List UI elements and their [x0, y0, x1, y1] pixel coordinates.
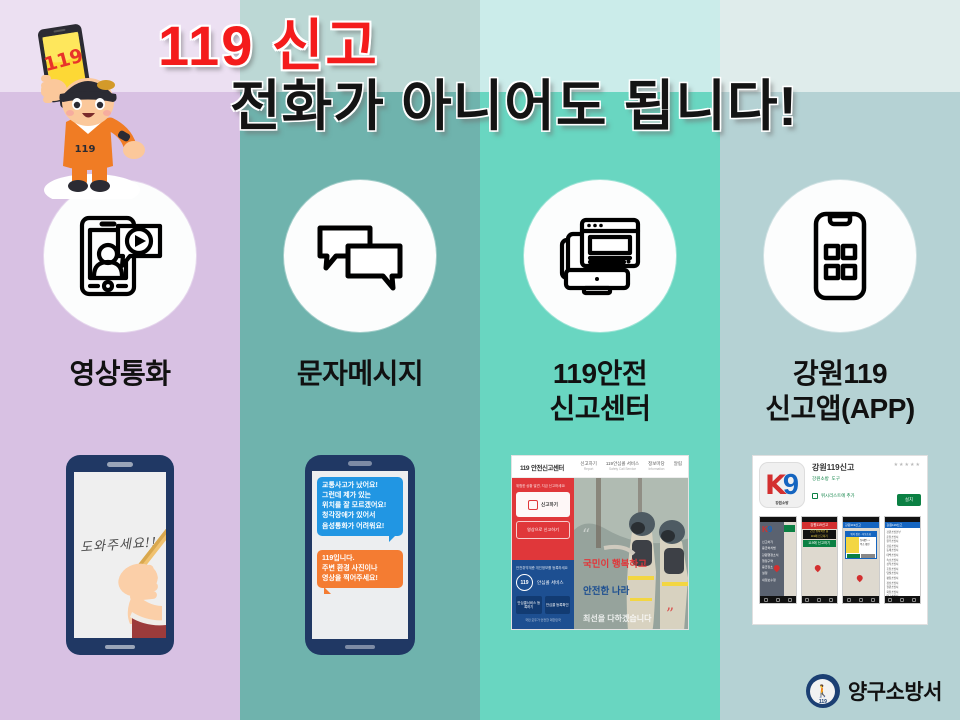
android-nav-bar — [843, 596, 879, 603]
app-install-button[interactable]: 설치 — [897, 494, 921, 506]
icon-circle-report-center — [524, 180, 676, 332]
hand-with-pencil-illustration — [74, 472, 166, 638]
safetycall-brand: 119 안심콜 서비스 — [516, 574, 570, 591]
media-cell-appstore: K 9 강원소방 강원119신고 강원소방 도구 위시리스트에 추가 ★★★★★ — [720, 455, 960, 670]
safetycall-tagline: 안전취약계층 개인정보를 등록하세요 — [516, 565, 570, 570]
column-2-top-band — [240, 0, 480, 92]
app-metadata: 강원119신고 강원소방 도구 위시리스트에 추가 — [812, 462, 870, 508]
shield-icon: 119 — [516, 574, 533, 591]
feature-report-center[interactable]: 119안전 신고센터 — [480, 180, 720, 460]
safetycall-footnote: 국민 모두가 안전한 대한민국 — [516, 618, 570, 622]
android-nav-bar — [802, 596, 838, 603]
report-icon — [528, 500, 538, 510]
app-title: 강원119신고 — [812, 462, 870, 473]
icon-circle-video-call — [44, 180, 196, 332]
hero-line-3: 최선을 다하겠습니다 — [583, 613, 651, 625]
column-3-top-band — [480, 0, 720, 92]
nav-item-3[interactable]: 알림 — [674, 461, 682, 473]
handwriting-phone-mockup: 도와주세요!! — [66, 455, 174, 655]
app-screenshot-gallery: K9 신고하기응급처치법강원행정소식행정구역응급장소설정내정보수정 — [759, 516, 921, 604]
safetycall-buttons: 안심콜서비스 등록하기 안심콜 등록확인 — [516, 596, 570, 614]
report-button-label: 신고하기 — [541, 502, 558, 508]
website-sidebar: 위험한 상황 발견, 지금 신고하세요! 신고하기 영상으로 신고하기 안전취약… — [512, 478, 574, 630]
yanggu-fire-station-emblem: 🚶 119 — [806, 674, 840, 708]
media-cell-handwriting: 도와주세요!! — [0, 455, 240, 670]
feature-label-text-message: 문자메시지 — [297, 356, 423, 391]
website-logo-subtitle: 안전신고센터 — [531, 465, 564, 472]
chat-bubbles-icon — [308, 204, 412, 308]
feature-list: 영상통화 문자메시지 — [0, 180, 960, 460]
hero-line-1: 국민이 행복하고 — [583, 558, 651, 572]
video-call-phone-icon — [68, 204, 172, 308]
feature-text-message[interactable]: 문자메시지 — [240, 180, 480, 460]
website-body: 위험한 상황 발견, 지금 신고하세요! 신고하기 영상으로 신고하기 안전취약… — [512, 478, 688, 630]
hero-text: 국민이 행복하고 안전한 나라 최선을 다하겠습니다 — [583, 544, 651, 630]
poster-root: 119 — [0, 0, 960, 720]
sms-phone-mockup: 교통사고가 났어요! 그런데 제가 있는 위치를 잘 모르겠어요! 청각장애가 … — [305, 455, 415, 655]
screenshot-body: 강원119신고 강원소방본부춘천소방서원주소방서강릉소방서동해소방서태백소방서속… — [885, 522, 921, 596]
quote-close-icon: ” — [666, 609, 674, 619]
smartphone-apps-icon — [788, 204, 892, 308]
screenshot-body: K9 신고하기응급처치법강원행정소식행정구역응급장소설정내정보수정 — [760, 522, 796, 596]
nav-item-0[interactable]: 신고하기Report — [580, 461, 597, 473]
nav-item-1[interactable]: 119안심콜 서비스Safety Call Service — [606, 461, 639, 473]
website-safetycall-panel: 안전취약계층 개인정보를 등록하세요 119 안심콜 서비스 안심콜서비스 등록… — [512, 560, 574, 630]
safetycall-confirm-button[interactable]: 안심콜 등록확인 — [545, 596, 571, 614]
media-cell-sms: 교통사고가 났어요! 그런데 제가 있는 위치를 잘 모르겠어요! 청각장애가 … — [240, 455, 480, 670]
emblem-number: 119 — [806, 699, 840, 705]
website-report-panel: 위험한 상황 발견, 지금 신고하세요! 신고하기 영상으로 신고하기 — [512, 478, 574, 560]
app-wishlist-button[interactable]: 위시리스트에 추가 — [812, 493, 870, 499]
sms-screen: 교통사고가 났어요! 그런데 제가 있는 위치를 잘 모르겠어요! 청각장애가 … — [312, 471, 408, 639]
app-screenshot-location[interactable]: 강원119신고 위치 정보 - 자동조회 동내면 ○○주소 확인 — [842, 516, 880, 604]
report-panel-tagline: 위험한 상황 발견, 지금 신고하세요! — [516, 483, 570, 488]
phone-home-button — [345, 645, 375, 649]
phone-speaker — [348, 461, 372, 466]
footer-branding: 🚶 119 양구소방서 — [806, 674, 942, 708]
app-icon-k9: K 9 강원소방 — [759, 462, 805, 508]
svg-text:119: 119 — [75, 144, 96, 155]
phone-speaker — [107, 462, 133, 467]
video-report-button[interactable]: 영상으로 신고하기 — [516, 521, 570, 539]
phone-home-button — [105, 645, 135, 649]
website-header: 119안전신고센터 신고하기Report 119안심콜 서비스Safety Ca… — [512, 456, 688, 478]
app-screenshot-menu[interactable]: K9 신고하기응급처치법강원행정소식행정구역응급장소설정내정보수정 — [759, 516, 797, 604]
icon-circle-text-message — [284, 180, 436, 332]
android-nav-bar — [760, 596, 796, 603]
app-rating-stars: ★★★★★ — [877, 462, 921, 468]
screenshot-body: 강원119신고 위치 정보 - 자동조회 동내면 ○○주소 확인 — [843, 522, 879, 596]
phone-screen: 도와주세요!! — [74, 472, 166, 638]
app-developer[interactable]: 강원소방 도구 — [812, 476, 870, 482]
media-examples-row: 도와주세요!! — [0, 455, 960, 670]
hero-line-2: 안전한 나라 — [583, 585, 651, 599]
website-nav: 신고하기Report 119안심콜 서비스Safety Call Service… — [580, 461, 682, 473]
nav-item-2[interactable]: 정보마당Information — [648, 461, 665, 473]
firefighter-mascot-illustration: 119 — [14, 14, 154, 199]
desktop-browser-icon — [548, 204, 652, 308]
sms-bubble-reply: 119입니다. 주변 환경 사진이나 영상을 찍어주세요! — [317, 550, 403, 588]
feature-label-video-call: 영상통화 — [69, 356, 170, 391]
icon-circle-report-app — [764, 180, 916, 332]
website-hero-image: “ 국민이 행복하고 안전한 나라 최선을 다하겠습니다 ” — [574, 478, 688, 630]
wishlist-label: 위시리스트에 추가 — [821, 493, 855, 499]
column-4-top-band — [720, 0, 960, 92]
organization-name: 양구소방서 — [848, 676, 942, 706]
media-cell-website: 119안전신고센터 신고하기Report 119안심콜 서비스Safety Ca… — [480, 455, 720, 670]
quote-open-icon: “ — [582, 530, 590, 540]
sms-bubble-incoming: 교통사고가 났어요! 그런데 제가 있는 위치를 잘 모르겠어요! 청각장애가 … — [317, 477, 403, 536]
emblem-figure-icon: 🚶 — [815, 685, 830, 697]
feature-report-app[interactable]: 강원119 신고앱(APP) — [720, 180, 960, 460]
report-button[interactable]: 신고하기 — [516, 492, 570, 517]
wishlist-checkbox-icon — [812, 493, 818, 499]
safetycall-register-button[interactable]: 안심콜서비스 등록하기 — [516, 596, 542, 614]
feature-video-call[interactable]: 영상통화 — [0, 180, 240, 460]
feature-label-report-app: 강원119 신고앱(APP) — [765, 356, 915, 426]
website-logo-number: 119 — [520, 465, 529, 472]
android-nav-bar — [885, 596, 921, 603]
app-icon-number-9: 9 — [783, 471, 799, 500]
app-screenshot-report[interactable]: 강원119신고 긴급 위치확인 중119에 신고하기 119에 신고하기 — [801, 516, 839, 604]
app-screenshot-list[interactable]: 강원119신고 강원소방본부춘천소방서원주소방서강릉소방서동해소방서태백소방서속… — [884, 516, 922, 604]
feature-label-report-center: 119안전 신고센터 — [549, 356, 650, 426]
website-logo: 119안전신고센터 — [518, 462, 564, 472]
safetycall-label: 안심콜 서비스 — [537, 580, 564, 586]
app-icon-caption: 강원소방 — [760, 501, 804, 506]
report-center-website-screenshot[interactable]: 119안전신고센터 신고하기Report 119안심콜 서비스Safety Ca… — [511, 455, 689, 630]
play-store-listing-screenshot[interactable]: K 9 강원소방 강원119신고 강원소방 도구 위시리스트에 추가 ★★★★★ — [752, 455, 928, 625]
screenshot-body: 강원119신고 긴급 위치확인 중119에 신고하기 119에 신고하기 — [802, 522, 838, 596]
